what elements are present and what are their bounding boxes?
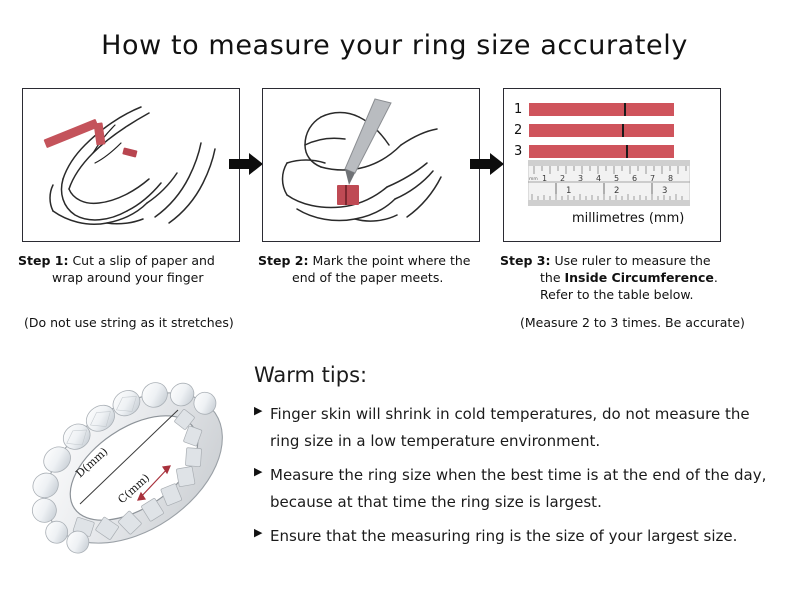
svg-text:5: 5 [614,174,619,183]
triangle-bullet-icon: ▶ [254,401,270,416]
warm-tips-heading: Warm tips: [254,363,774,387]
ring-diagram: D(mm) C(mm) [18,352,250,584]
hand-marking-with-pen-icon [263,89,479,241]
step-1-illustration-panel [22,88,240,242]
strip-bar-3 [529,145,674,158]
svg-text:2: 2 [560,174,565,183]
svg-text:1: 1 [566,186,571,196]
strip-bar-1 [529,103,674,116]
strip-number-2: 2 [514,124,522,137]
step-3-line-2-prefix: the [540,270,565,285]
svg-text:7: 7 [650,174,655,183]
ruler-unit-caption: millimetres (mm) [572,211,684,226]
step-2-illustration-panel [262,88,480,242]
step-3-caption: Step 3: Use ruler to measure the the Ins… [500,252,750,303]
page-title: How to measure your ring size accurately [0,30,789,61]
strip-number-1: 1 [514,103,522,116]
step-1-line-2: wrap around your finger [18,269,250,286]
paper-strip-red [44,119,138,158]
warm-tip-text-3: Ensure that the measuring ring is the si… [270,523,774,550]
strip-mark-3 [626,145,628,158]
step-3-inside-circumference-emphasis: Inside Circumference [565,270,714,285]
svg-text:2: 2 [614,186,619,196]
svg-text:3: 3 [662,186,667,196]
step-2-caption: Step 2: Mark the point where the end of … [258,252,490,286]
svg-text:3: 3 [578,174,583,183]
step-1-note: (Do not use string as it stretches) [24,315,234,330]
warm-tip-text-2: Measure the ring size when the best time… [270,462,774,516]
step-3-line-1: Use ruler to measure the [554,253,710,268]
step-3-label: Step 3: [500,253,550,268]
step-1-label: Step 1: [18,253,68,268]
warm-tip-text-1: Finger skin will shrink in cold temperat… [270,401,774,455]
step-2-label: Step 2: [258,253,308,268]
step-3-line-3: Refer to the table below. [500,286,750,303]
strip-mark-1 [624,103,626,116]
steps-row: 1 2 3 [0,88,789,248]
warm-tip-item: ▶ Ensure that the measuring ring is the … [254,523,774,550]
strip-mark-2 [622,124,624,137]
ruler-icon: 123 456 78 mm 123 [528,160,690,206]
step-3-illustration-panel: 1 2 3 [503,88,721,242]
svg-text:8: 8 [668,174,673,183]
step-2-line-2: end of the paper meets. [258,269,490,286]
paper-strip-red [337,185,359,205]
pen-icon [345,99,391,185]
step-3-line-2: the Inside Circumference. [500,269,750,286]
warm-tip-item: ▶ Finger skin will shrink in cold temper… [254,401,774,455]
ruler-cm-unit: mm [529,177,538,182]
step-3-line-2-suffix: . [714,270,718,285]
step-1-line-1: Cut a slip of paper and [72,253,214,268]
svg-text:6: 6 [632,174,637,183]
strip-number-3: 3 [514,145,522,158]
warm-tip-item: ▶ Measure the ring size when the best ti… [254,462,774,516]
step-1-caption: Step 1: Cut a slip of paper and wrap aro… [18,252,250,286]
strip-bar-2 [529,124,674,137]
warm-tips-section: Warm tips: ▶ Finger skin will shrink in … [254,363,774,557]
step-2-line-1: Mark the point where the [312,253,470,268]
triangle-bullet-icon: ▶ [254,462,270,477]
arrow-step1-to-step2 [229,150,265,178]
svg-text:4: 4 [596,174,601,183]
step-3-note: (Measure 2 to 3 times. Be accurate) [520,315,745,330]
hand-with-paper-strip-icon [23,89,239,241]
diamond-eternity-ring-icon: D(mm) C(mm) [18,352,250,584]
triangle-bullet-icon: ▶ [254,523,270,538]
arrow-step2-to-step3 [470,150,506,178]
svg-text:1: 1 [542,174,547,183]
